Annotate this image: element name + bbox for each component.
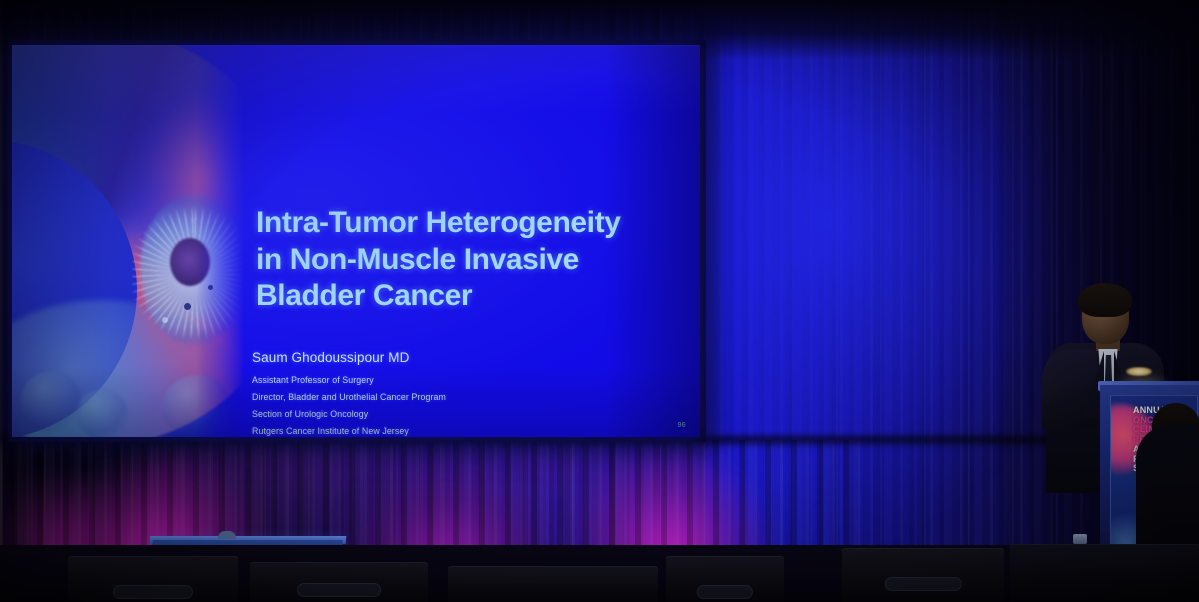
- presenter-affiliation-2: Director, Bladder and Urothelial Cancer …: [252, 389, 582, 406]
- conference-photo-scene: Intra-Tumor Heterogeneity in Non-Muscle …: [0, 0, 1199, 602]
- stage-monitor: [250, 562, 428, 602]
- stage-monitor: [842, 548, 1004, 602]
- presenter-affiliation-3: Section of Urologic Oncology: [252, 406, 582, 423]
- artwork-edge-fade: [196, 45, 244, 437]
- artwork-speck: [184, 303, 191, 310]
- monitor-grille: [697, 585, 753, 599]
- stage-monitor: [666, 556, 784, 602]
- artwork-speck: [162, 317, 168, 323]
- stage-table-object: [218, 531, 236, 539]
- monitor-grille: [297, 583, 381, 597]
- slide-title: Intra-Tumor Heterogeneity in Non-Muscle …: [256, 205, 696, 315]
- podium-shelf-object: [1073, 534, 1087, 544]
- slide-title-line-1: Intra-Tumor Heterogeneity: [256, 205, 696, 242]
- speaker-shoulder: [1042, 349, 1096, 429]
- stage-monitor: [1010, 544, 1199, 602]
- slide-title-line-3: Bladder Cancer: [256, 278, 696, 315]
- presenter-affiliation-4: Rutgers Cancer Institute of New Jersey: [252, 423, 582, 437]
- monitor-grille: [113, 585, 193, 599]
- monitor-grille: [885, 577, 962, 591]
- stage-monitor: [448, 566, 658, 602]
- slide-title-line-2: in Non-Muscle Invasive: [256, 242, 696, 279]
- podium-lamp: [1126, 367, 1152, 376]
- artwork-bubble: [20, 371, 82, 433]
- presenter-affiliation-1: Assistant Professor of Surgery: [252, 372, 582, 389]
- presenter-name: Saum Ghodoussipour MD: [252, 350, 582, 365]
- slide-presenter-block: Saum Ghodoussipour MD Assistant Professo…: [252, 350, 582, 437]
- slide-number: 96: [678, 422, 686, 429]
- speaker-hair: [1078, 283, 1132, 317]
- artwork-bubble: [76, 389, 128, 437]
- slide-artwork-image: [12, 45, 244, 437]
- stage-monitor: [68, 556, 238, 602]
- presentation-slide: Intra-Tumor Heterogeneity in Non-Muscle …: [12, 45, 700, 437]
